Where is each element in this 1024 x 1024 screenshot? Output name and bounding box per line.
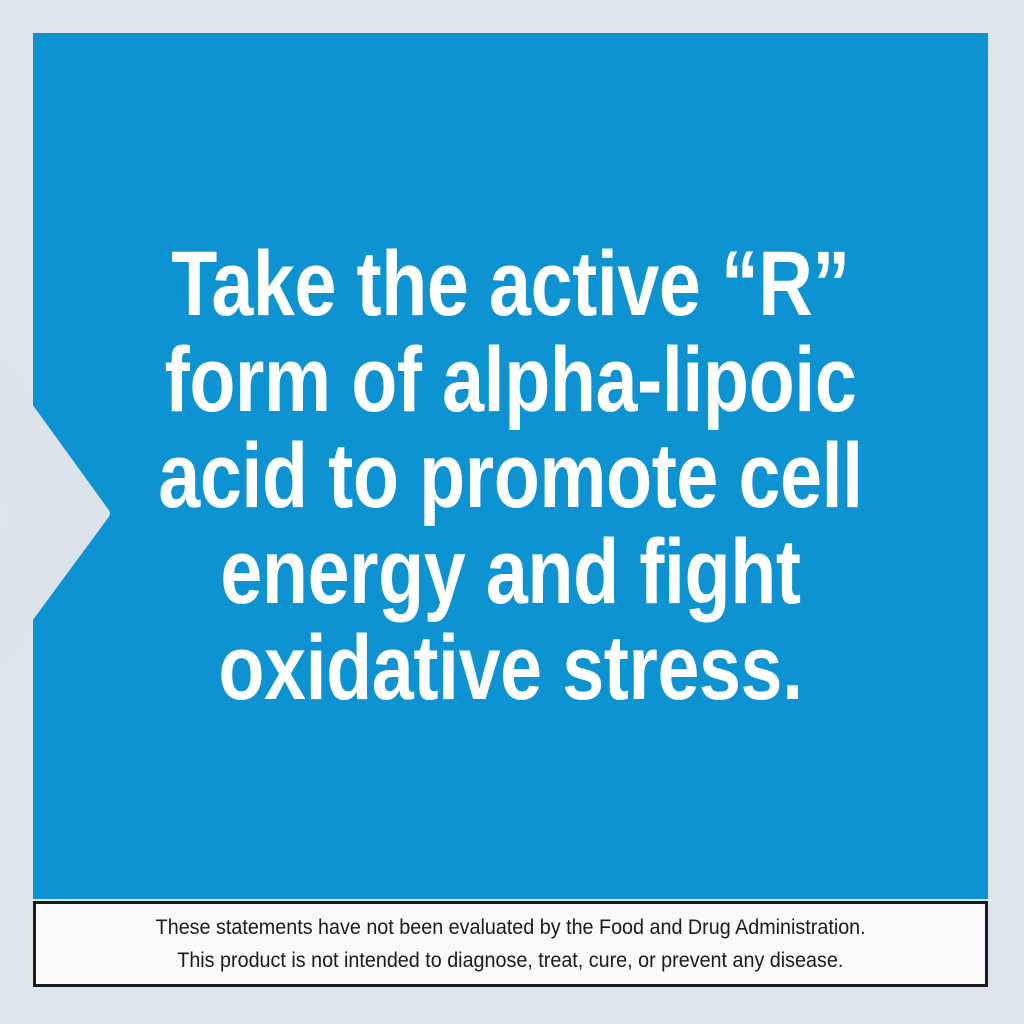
headline-line-3: acid to promote cell: [119, 428, 902, 524]
disclaimer-line-1: These statements have not been evaluated…: [156, 911, 866, 944]
fda-disclaimer-box: These statements have not been evaluated…: [33, 901, 988, 987]
headline-line-2: form of alpha-lipoic: [119, 332, 902, 428]
disclaimer-line-2: This product is not intended to diagnose…: [177, 944, 843, 977]
headline-line-5: oxidative stress.: [119, 620, 902, 716]
headline-line-4: energy and fight: [119, 524, 902, 620]
promo-card: Take the active “R” form of alpha-lipoic…: [0, 0, 1024, 1024]
headline: Take the active “R” form of alpha-lipoic…: [33, 236, 988, 716]
headline-line-1: Take the active “R”: [119, 236, 902, 332]
